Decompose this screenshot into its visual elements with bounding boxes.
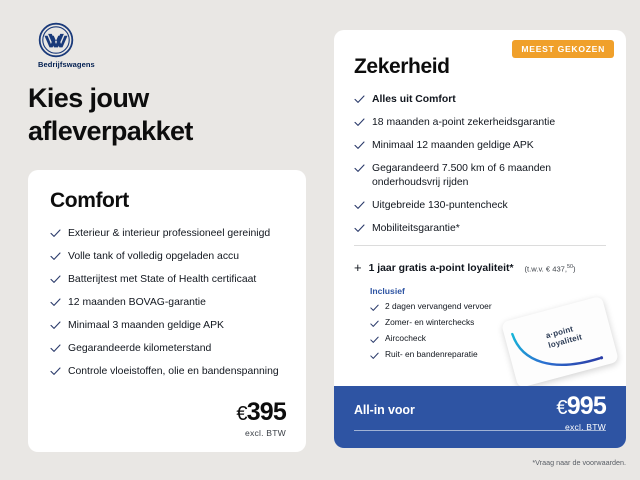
zekerheid-title: Zekerheid: [354, 55, 626, 79]
currency-symbol: €: [236, 403, 246, 425]
check-icon: [354, 201, 365, 210]
list-item: Uitgebreide 130-puntencheck: [354, 199, 612, 213]
list-item: Exterieur & interieur professioneel gere…: [50, 227, 290, 241]
check-icon: [354, 95, 365, 104]
headline-line-1: Kies jouw: [28, 82, 308, 115]
loyalty-worth-prefix: (t.w.v. € 437,: [525, 264, 568, 273]
feature-text: Gegarandeerde kilometerstand: [68, 342, 211, 356]
feature-text: Alles uit Comfort: [372, 93, 456, 107]
comfort-price: €395: [236, 400, 286, 425]
check-icon: [370, 320, 379, 328]
footnote: *Vraag naar de voorwaarden.: [532, 458, 626, 467]
feature-text: Minimaal 3 maanden geldige APK: [68, 319, 224, 333]
check-icon: [354, 164, 365, 173]
check-icon: [50, 252, 61, 261]
check-icon: [354, 118, 365, 127]
inclusief-section: Inclusief 2 dagen vervangend vervoer Zom…: [370, 286, 626, 360]
inclusief-title: Inclusief: [370, 286, 626, 296]
zekerheid-package-card[interactable]: MEEST GEKOZEN Zekerheid Alles uit Comfor…: [334, 30, 626, 448]
check-icon: [370, 336, 379, 344]
zekerheid-price: €995: [556, 394, 606, 419]
list-item: Minimaal 12 maanden geldige APK: [354, 139, 612, 153]
section-divider: [354, 245, 606, 246]
zekerheid-price-footer: All-in voor €995 excl. BTW: [334, 386, 626, 448]
comfort-package-card[interactable]: Comfort Exterieur & interieur profession…: [28, 170, 306, 452]
check-icon: [50, 298, 61, 307]
inclusief-text: Aircocheck: [385, 333, 426, 344]
feature-text: Gegarandeerd 7.500 km of 6 maanden onder…: [372, 162, 612, 190]
feature-text: Controle vloeistoffen, olie en bandenspa…: [68, 365, 279, 379]
vw-logo-icon: [38, 22, 74, 58]
price-amount: 995: [567, 392, 606, 420]
inclusief-text: Zomer- en winterchecks: [385, 317, 474, 328]
feature-text: Batterijtest met State of Health certifi…: [68, 273, 256, 287]
promo-poster: Bedrijfswagens Kies jouw afleverpakket C…: [0, 0, 640, 480]
comfort-title: Comfort: [50, 189, 306, 213]
check-icon: [50, 344, 61, 353]
loyalty-headline-row: + 1 jaar gratis a-point loyaliteit* (t.w…: [354, 260, 626, 274]
comfort-price-block: €395 excl. BTW: [236, 400, 286, 438]
check-icon: [50, 275, 61, 284]
list-item: Mobiliteitsgarantie*: [354, 222, 612, 236]
brand-wordmark: Bedrijfswagens: [38, 60, 108, 69]
list-item: Batterijtest met State of Health certifi…: [50, 273, 290, 287]
feature-text: Mobiliteitsgarantie*: [372, 222, 460, 236]
list-item: 18 maanden a-point zekerheidsgarantie: [354, 116, 612, 130]
feature-text: Minimaal 12 maanden geldige APK: [372, 139, 534, 153]
loyalty-label: 1 jaar gratis a-point loyaliteit*: [369, 263, 514, 274]
feature-text: 18 maanden a-point zekerheidsgarantie: [372, 116, 555, 130]
list-item: Gegarandeerde kilometerstand: [50, 342, 290, 356]
list-item: Volle tank of volledig opgeladen accu: [50, 250, 290, 264]
comfort-price-note: excl. BTW: [236, 428, 286, 438]
price-amount: 395: [247, 398, 286, 426]
feature-text: Exterieur & interieur professioneel gere…: [68, 227, 270, 241]
check-icon: [50, 229, 61, 238]
loyalty-worth-suffix: ): [573, 264, 576, 273]
feature-text: Volle tank of volledig opgeladen accu: [68, 250, 239, 264]
zekerheid-price-note: excl. BTW: [556, 422, 606, 432]
check-icon: [354, 141, 365, 150]
feature-text: Uitgebreide 130-puntencheck: [372, 199, 508, 213]
plus-icon: +: [354, 261, 362, 274]
check-icon: [50, 321, 61, 330]
list-item: Controle vloeistoffen, olie en bandenspa…: [50, 365, 290, 379]
brand-lockup: Bedrijfswagens: [38, 22, 108, 69]
zekerheid-price-block: €995 excl. BTW: [556, 394, 606, 432]
list-item: Minimaal 3 maanden geldige APK: [50, 319, 290, 333]
zekerheid-feature-list: Alles uit Comfort 18 maanden a-point zek…: [354, 93, 626, 236]
list-item: Alles uit Comfort: [354, 93, 612, 107]
list-item: Gegarandeerd 7.500 km of 6 maanden onder…: [354, 162, 612, 190]
check-icon: [354, 224, 365, 233]
currency-symbol: €: [556, 397, 566, 419]
headline-line-2: afleverpakket: [28, 115, 308, 148]
left-column: Bedrijfswagens Kies jouw afleverpakket C…: [0, 0, 330, 480]
comfort-feature-list: Exterieur & interieur professioneel gere…: [50, 227, 306, 379]
status-badge: MEEST GEKOZEN: [512, 40, 614, 58]
inclusief-text: Ruit- en bandenreparatie: [385, 349, 478, 360]
check-icon: [50, 367, 61, 376]
inclusief-text: 2 dagen vervangend vervoer: [385, 301, 492, 312]
check-icon: [370, 304, 379, 312]
loyalty-worth: (t.w.v. € 437,50): [525, 264, 576, 274]
page-title: Kies jouw afleverpakket: [28, 82, 308, 148]
feature-text: 12 maanden BOVAG-garantie: [68, 296, 206, 310]
allin-label: All-in voor: [354, 403, 415, 417]
check-icon: [370, 352, 379, 360]
list-item: 12 maanden BOVAG-garantie: [50, 296, 290, 310]
